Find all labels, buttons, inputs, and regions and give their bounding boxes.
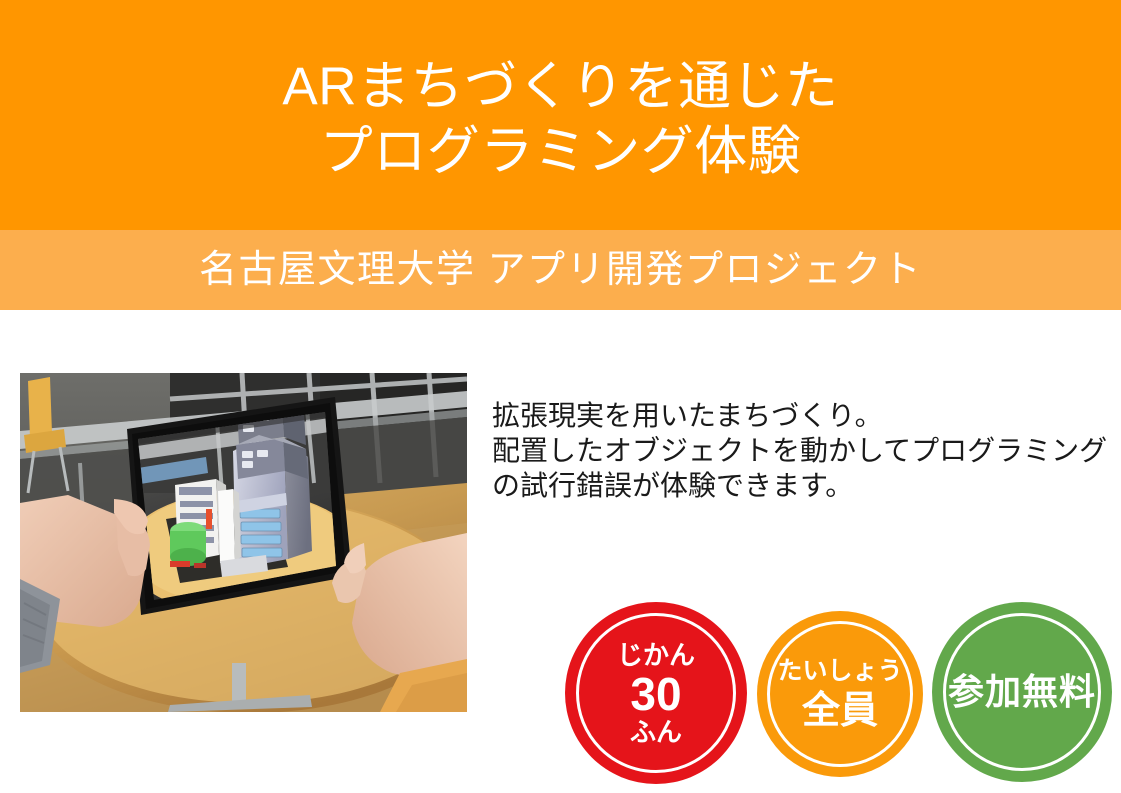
badge-audience-kicker: たいしょう xyxy=(777,656,902,686)
poster-body: 拡張現実を用いたまちづくり。 配置したオブジェクトを動かしてプログラミング の試… xyxy=(0,310,1121,793)
badge-duration: じかん 30 ふん xyxy=(565,602,747,784)
badge-audience: たいしょう 全員 xyxy=(757,611,923,777)
badge-duration-value: 30 xyxy=(630,669,681,719)
ar-tablet-photo-graphic xyxy=(20,373,467,712)
poster-header: ARまちづくりを通じた プログラミング体験 xyxy=(0,0,1121,230)
description-line-2: 配置したオブジェクトを動かしてプログラミング xyxy=(492,433,1092,468)
badge-fee-value: 参加無料 xyxy=(948,671,1096,713)
description-line-1: 拡張現実を用いたまちづくり。 xyxy=(492,398,1092,433)
ar-tablet-photo xyxy=(20,373,467,712)
badge-fee: 参加無料 xyxy=(932,602,1112,782)
badge-audience-value: 全員 xyxy=(802,690,878,732)
poster-title-line-1: ARまちづくりを通じた xyxy=(282,55,838,118)
poster-title-line-2: プログラミング体験 xyxy=(320,120,802,183)
badge-duration-kicker: じかん xyxy=(617,640,695,670)
badge-duration-unit: ふん xyxy=(630,717,682,747)
badge-row: じかん 30 ふん たいしょう 全員 参加無料 xyxy=(563,593,1113,783)
organization-subtitle: 名古屋文理大学 アプリ開発プロジェクト xyxy=(199,248,922,292)
description-line-3: の試行錯誤が体験できます。 xyxy=(492,468,1092,503)
description-block: 拡張現実を用いたまちづくり。 配置したオブジェクトを動かしてプログラミング の試… xyxy=(492,398,1092,503)
subtitle-band: 名古屋文理大学 アプリ開発プロジェクト xyxy=(0,230,1121,310)
